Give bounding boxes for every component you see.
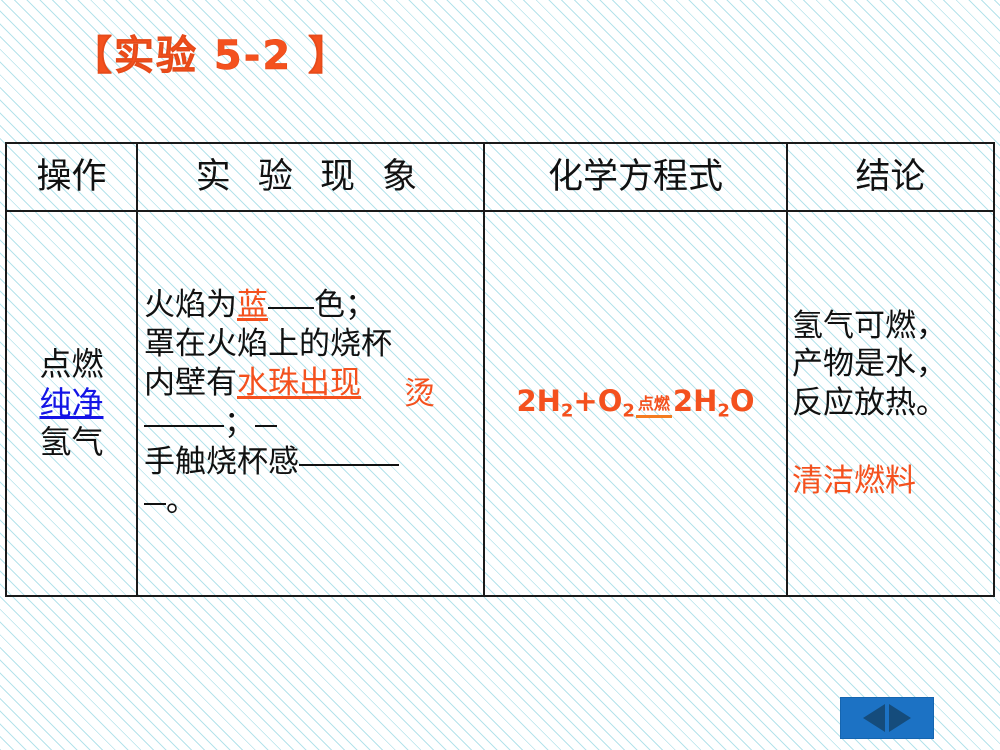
phenomenon-answer-hot: 烫 xyxy=(404,379,435,410)
header-cell-conclusion: 结论 xyxy=(787,143,994,211)
cell-phenomenon: 火焰为蓝色； 罩在火焰上的烧杯 内壁有水珠出现 烫 ； 手触烧杯感 。 xyxy=(137,211,484,596)
conclusion-line-1: 氢气可燃， xyxy=(792,307,993,345)
phenomenon-l3-prefix: 内壁有 xyxy=(144,365,237,401)
eq-coef-h2: 2 xyxy=(516,384,536,418)
eq-condition-ignite: 点燃 xyxy=(636,396,672,418)
phenomenon-blank-2 xyxy=(144,425,224,427)
slide-navigation-buttons[interactable] xyxy=(840,697,934,739)
phenomenon-answer-water: 水珠出现 xyxy=(237,365,361,401)
previous-slide-icon[interactable] xyxy=(863,704,885,732)
header-conclusion-label: 结论 xyxy=(788,160,993,195)
eq-right-h-subscript: 2 xyxy=(717,400,730,421)
phenomenon-blank-5 xyxy=(144,503,166,505)
phenomenon-answer-blue: 蓝 xyxy=(237,287,268,323)
phenomenon-l1-prefix: 火焰为 xyxy=(144,287,237,323)
phenomenon-blank-1 xyxy=(268,307,314,309)
header-cell-operation: 操作 xyxy=(6,143,137,211)
eq-o-subscript: 2 xyxy=(622,400,635,421)
eq-o-symbol: O xyxy=(598,384,623,418)
conclusion-line-2: 产物是水， xyxy=(792,345,993,383)
phenomenon-blank-3 xyxy=(255,425,277,427)
conclusion-spacer xyxy=(792,422,993,462)
header-operation-label: 操作 xyxy=(7,160,136,195)
phenomenon-l1-suffix: 色； xyxy=(314,287,376,323)
chemical-equation: 2H2+O2点燃2H2O xyxy=(516,387,754,420)
conclusion-line-3: 反应放热。 xyxy=(792,384,993,422)
eq-h-subscript: 2 xyxy=(561,400,574,421)
operation-line-2-pure: 纯净 xyxy=(7,384,136,423)
operation-line-3: 氢气 xyxy=(7,423,136,462)
cell-equation: 2H2+O2点燃2H2O xyxy=(484,211,787,596)
phenomenon-line-6: 。 xyxy=(144,482,481,521)
phenomenon-semicolon: ； xyxy=(224,405,255,441)
table-header-row: 操作 实 验 现 象 化学方程式 结论 xyxy=(6,143,994,211)
experiment-table: 操作 实 验 现 象 化学方程式 结论 点燃 纯净 氢气 火 xyxy=(5,142,995,597)
header-phenomenon-label: 实 验 现 象 xyxy=(138,160,483,195)
header-cell-phenomenon: 实 验 现 象 xyxy=(137,143,484,211)
page-title: 【实验 5-2 】 xyxy=(72,34,350,78)
table-row: 点燃 纯净 氢气 火焰为蓝色； 罩在火焰上的烧杯 内壁有水珠出现 烫 ； 手触烧… xyxy=(6,211,994,596)
phenomenon-text-block: 火焰为蓝色； 罩在火焰上的烧杯 内壁有水珠出现 烫 ； 手触烧杯感 。 xyxy=(144,286,481,520)
conclusion-line-4-clean-fuel: 清洁燃料 xyxy=(792,462,993,500)
eq-right-h: H xyxy=(693,384,717,418)
eq-plus: + xyxy=(573,384,597,418)
operation-line-1: 点燃 xyxy=(7,345,136,384)
header-cell-equation: 化学方程式 xyxy=(484,143,787,211)
phenomenon-l5-text: 手触烧杯感 xyxy=(144,444,299,480)
phenomenon-period: 。 xyxy=(166,483,197,519)
phenomenon-line-5: 手触烧杯感 xyxy=(144,443,481,482)
next-slide-icon[interactable] xyxy=(889,704,911,732)
eq-right-o: O xyxy=(730,384,755,418)
phenomenon-blank-4 xyxy=(299,464,399,466)
phenomenon-line-2: 罩在火焰上的烧杯 xyxy=(144,325,481,364)
header-equation-label: 化学方程式 xyxy=(485,160,786,195)
phenomenon-line-1: 火焰为蓝色； xyxy=(144,286,481,325)
cell-operation: 点燃 纯净 氢气 xyxy=(6,211,137,596)
cell-conclusion: 氢气可燃， 产物是水， 反应放热。 清洁燃料 xyxy=(787,211,994,596)
eq-h-symbol: H xyxy=(537,384,561,418)
eq-right-coef: 2 xyxy=(673,384,693,418)
